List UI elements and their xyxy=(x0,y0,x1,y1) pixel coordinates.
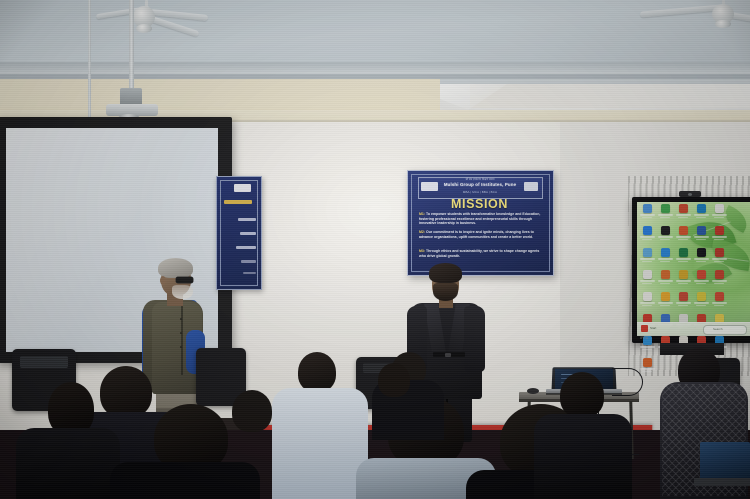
desktop-icon-label-line2 xyxy=(642,371,652,373)
audience-head-back-c xyxy=(232,390,272,432)
desktop-icon-glyph xyxy=(643,270,652,279)
vision-board-word-3 xyxy=(236,246,256,249)
desktop-icon[interactable] xyxy=(638,292,656,314)
desktop-icon-glyph xyxy=(697,226,706,235)
desktop-icon-label xyxy=(712,214,727,216)
desktop-icon[interactable] xyxy=(656,248,674,270)
vision-board-title-bar xyxy=(224,200,252,204)
desktop-icon-label-line2 xyxy=(696,239,706,241)
mission-item-m1-tag: M1: xyxy=(419,212,425,216)
desktop-icon-label xyxy=(640,368,655,370)
desktop-icon-glyph xyxy=(661,226,670,235)
mission-item-m2-tag: M2: xyxy=(419,230,425,234)
desktop-icon-glyph xyxy=(661,204,670,213)
mission-item-m1: M1: To empower students with transformat… xyxy=(419,212,541,226)
desktop-icon-label-line2 xyxy=(660,239,670,241)
taskbar-search-placeholder[interactable]: Search xyxy=(713,327,723,331)
desktop-icon-label-line2 xyxy=(678,239,688,241)
audience-body-white-shirt xyxy=(272,388,368,499)
desktop-icon[interactable] xyxy=(674,292,692,314)
audience-head-mid-right xyxy=(560,372,604,418)
desktop-icon-label xyxy=(676,302,691,304)
desktop-icon-label xyxy=(658,214,673,216)
desktop-icon-label xyxy=(658,302,673,304)
desktop-icon[interactable] xyxy=(692,270,710,292)
desktop-icon-label-line2 xyxy=(660,283,670,285)
desktop-icon[interactable] xyxy=(656,292,674,314)
display-camera-lens xyxy=(688,193,692,196)
taskbar-search-box[interactable] xyxy=(703,325,747,335)
desktop-icon-glyph xyxy=(715,248,724,257)
desktop-icon-glyph xyxy=(643,358,652,367)
audience-laptop-base xyxy=(694,478,750,486)
desktop-icon-label xyxy=(694,236,709,238)
desktop-icon-glyph xyxy=(715,270,724,279)
chair-mesh-left xyxy=(20,356,68,368)
desktop-icon[interactable] xyxy=(674,270,692,292)
desktop-icon-glyph xyxy=(661,248,670,257)
desktop-icon-label-line2 xyxy=(696,283,706,285)
institute-logo-right xyxy=(524,182,538,191)
desktop-icon-glyph xyxy=(679,226,688,235)
desktop-icon-label-line2 xyxy=(696,305,706,307)
desktop-icon-label xyxy=(640,236,655,238)
taskbar-start-label[interactable]: Start xyxy=(650,326,656,330)
desktop-icon-glyph xyxy=(661,292,670,301)
desktop-icon-label xyxy=(676,280,691,282)
desktop-icon-glyph xyxy=(715,292,724,301)
presenter-young-beard xyxy=(433,283,458,301)
desktop-icon-label xyxy=(712,236,727,238)
desktop-icon-label xyxy=(694,258,709,260)
desktop-icon-label-line2 xyxy=(678,261,688,263)
desktop-icon-label xyxy=(712,280,727,282)
desktop-icon-glyph xyxy=(661,270,670,279)
desktop-icon[interactable] xyxy=(710,248,728,270)
audience-laptop-screen[interactable] xyxy=(700,442,750,482)
desktop-icon[interactable] xyxy=(710,204,728,226)
desktop-icon[interactable] xyxy=(674,248,692,270)
desktop-icon-glyph xyxy=(697,204,706,213)
desktop-icon[interactable] xyxy=(674,226,692,248)
desktop-icon-label xyxy=(712,302,727,304)
desktop-icon[interactable] xyxy=(656,226,674,248)
ceiling-recess-inner xyxy=(470,80,750,108)
desktop-icon[interactable] xyxy=(710,270,728,292)
desktop-icon-label-line2 xyxy=(678,217,688,219)
vision-board-word-4 xyxy=(241,260,256,263)
display-brand-logo: IFPD xyxy=(640,336,648,340)
desktop-icon-label-line2 xyxy=(642,283,652,285)
desktop-icon-glyph xyxy=(679,204,688,213)
desktop-icon-label-line2 xyxy=(696,217,706,219)
desktop-icon-label-line2 xyxy=(642,239,652,241)
audience-head-back-b xyxy=(378,363,410,397)
desktop-icon-label xyxy=(640,258,655,260)
presenter-young-hair xyxy=(429,263,462,283)
desktop-icon-label xyxy=(640,214,655,216)
desktop-icon-glyph xyxy=(679,292,688,301)
mission-board-accreditation: MBA | MCA | BBA | BCA xyxy=(441,190,519,194)
desktop-icon-glyph xyxy=(643,204,652,213)
power-cable-loop xyxy=(612,368,643,396)
desktop-icon-glyph xyxy=(679,270,688,279)
computer-mouse[interactable] xyxy=(527,388,539,394)
institute-logo-left xyxy=(421,182,438,191)
desktop-icon-label xyxy=(658,280,673,282)
eyeglasses-icon xyxy=(176,277,193,283)
desktop-icon[interactable] xyxy=(692,248,710,270)
desktop-icon[interactable] xyxy=(638,248,656,270)
desktop-icon[interactable] xyxy=(692,226,710,248)
desktop-icon[interactable] xyxy=(710,226,728,248)
desktop-icon-label-line2 xyxy=(714,217,724,219)
desktop-icon[interactable] xyxy=(638,270,656,292)
audience-body-foreground-left xyxy=(110,462,260,499)
desktop-icon-label xyxy=(694,214,709,216)
audience-head-white-shirt xyxy=(298,352,336,392)
audience-body-left-b xyxy=(16,428,120,499)
desktop-icon-label xyxy=(676,214,691,216)
mission-item-m3: M3: Through ethics and sustainability, w… xyxy=(419,249,541,258)
desktop-icon-label-line2 xyxy=(642,261,652,263)
desktop-icon-label xyxy=(694,280,709,282)
desktop-icon[interactable] xyxy=(674,204,692,226)
desktop-icon-glyph xyxy=(715,226,724,235)
desktop-icon-label-line2 xyxy=(714,239,724,241)
vision-board-logo xyxy=(234,184,251,192)
desktop-icon-glyph xyxy=(679,248,688,257)
desktop-icon[interactable] xyxy=(692,292,710,314)
desktop-icon-label-line2 xyxy=(714,261,724,263)
mission-item-m3-text: Through ethics and sustainability, we st… xyxy=(419,249,539,258)
audience-head-left-a xyxy=(100,366,152,418)
desktop-icon-label-line2 xyxy=(642,305,652,307)
desktop-icon-glyph xyxy=(697,292,706,301)
desktop-icon-label-line2 xyxy=(678,305,688,307)
presenter-senior-beard xyxy=(172,285,193,299)
desktop-icon-label-line2 xyxy=(642,349,652,351)
desktop-icon-label-line2 xyxy=(660,305,670,307)
desktop-icon-label-line2 xyxy=(660,217,670,219)
desktop-icon-glyph xyxy=(643,248,652,257)
desktop-icon-label-line2 xyxy=(642,217,652,219)
mission-board-organization: Mulshi Group of Institutes, Pune xyxy=(439,183,521,188)
desktop-icon-label-line2 xyxy=(714,305,724,307)
desktop-icon-glyph xyxy=(643,226,652,235)
desktop-icon-label-line2 xyxy=(660,261,670,263)
mission-item-m2-text: Our commitment is to inspire and ignite … xyxy=(419,230,534,239)
desktop-icon[interactable] xyxy=(638,226,656,248)
desktop-icon-label-line2 xyxy=(714,283,724,285)
mission-item-m2: M2: Our commitment is to inspire and ign… xyxy=(419,230,541,239)
desktop-icon-label-line2 xyxy=(696,261,706,263)
mission-item-m1-text: To empower students with transformative … xyxy=(419,212,540,225)
desktop-icon[interactable] xyxy=(656,270,674,292)
desktop-icon-label xyxy=(640,302,655,304)
belt-buckle xyxy=(445,353,451,357)
desktop-icon-label xyxy=(640,280,655,282)
desktop-icon-glyph xyxy=(643,292,652,301)
desktop-icon[interactable] xyxy=(656,204,674,226)
desktop-icon-label xyxy=(658,258,673,260)
audience-body-mid-right xyxy=(534,414,632,499)
desktop-icon[interactable] xyxy=(710,292,728,314)
desktop-icon-glyph xyxy=(697,270,706,279)
desktop-icon-label xyxy=(676,258,691,260)
classroom-photo-scene: श्री संत ज्ञानेश्वर शिक्षण संस्था Mulshi… xyxy=(0,0,750,499)
start-button-icon[interactable] xyxy=(641,325,648,332)
desktop-icon-label xyxy=(658,236,673,238)
vision-board-word-2 xyxy=(240,232,256,235)
desktop-icon-label xyxy=(676,236,691,238)
desktop-icon-label xyxy=(694,302,709,304)
desktop-icon-glyph xyxy=(697,248,706,257)
vision-board-word-1 xyxy=(238,218,256,221)
desktop-icon-label xyxy=(712,258,727,260)
presenter-senior-hair xyxy=(158,258,193,278)
desktop-icon-label xyxy=(640,346,655,348)
mission-item-m3-tag: M3: xyxy=(419,249,425,253)
desktop-icon-glyph xyxy=(715,204,724,213)
desktop-icon-label-line2 xyxy=(678,283,688,285)
desktop-icon[interactable] xyxy=(692,204,710,226)
desktop-icon[interactable] xyxy=(638,204,656,226)
mission-board-heading: MISSION xyxy=(418,198,541,211)
